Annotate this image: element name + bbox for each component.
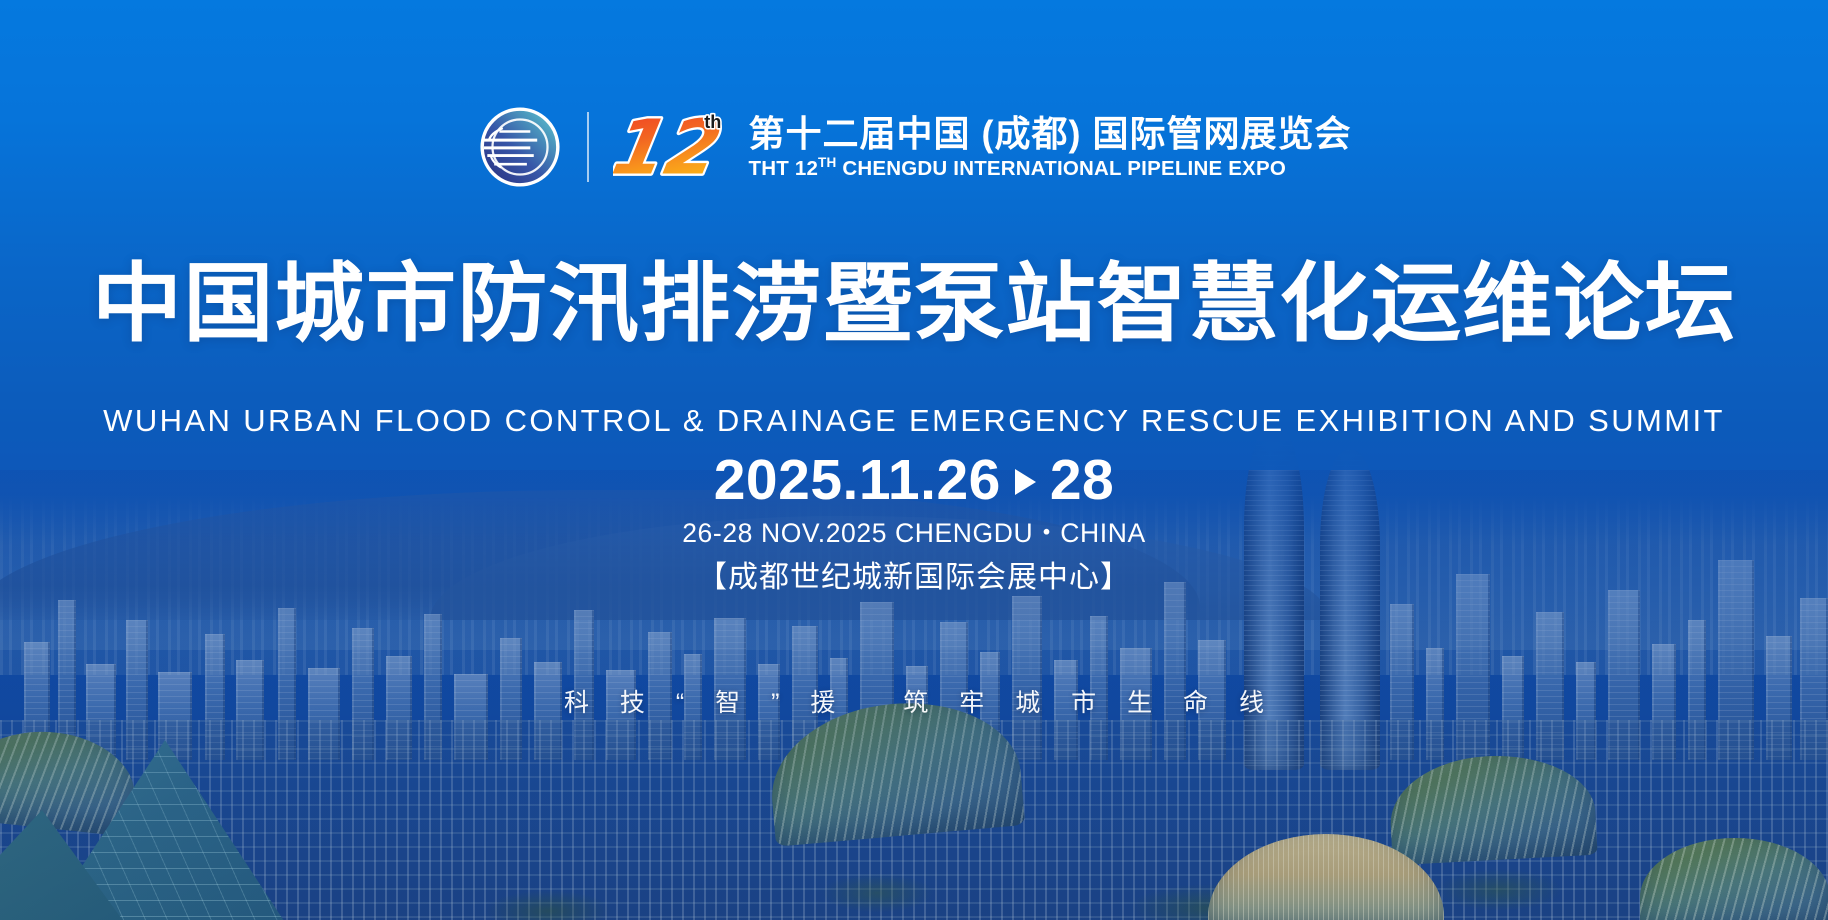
expo-header-row: 12 th 第十二届中国 (成都) 国际管网展览会 THT 12TH CHENG… [0,104,1828,190]
event-banner: 12 th 第十二届中国 (成都) 国际管网展览会 THT 12TH CHENG… [0,0,1828,920]
event-date-start: 2025.11.26 [714,447,1001,513]
play-triangle-icon [1015,469,1036,495]
expo-title-cn: 第十二届中国 (成都) 国际管网展览会 [749,114,1352,154]
expo-title-en: THT 12TH CHENGDU INTERNATIONAL PIPELINE … [749,155,1352,180]
event-date-en: 26-28 NOV.2025 CHENGDU・CHINA [0,511,1828,550]
pipeline-circle-emblem-icon [477,104,563,190]
vertical-divider-icon [587,112,589,182]
main-title-en: WUHAN URBAN FLOOD CONTROL & DRAINAGE EME… [0,403,1828,439]
event-venue: 【成都世纪城新国际会展中心】 [0,552,1828,596]
expo-title-en-prefix: THT 12 [749,157,819,180]
event-date-end: 28 [1050,447,1114,513]
expo-title-en-rest: CHENGDU INTERNATIONAL PIPELINE EXPO [836,157,1286,180]
svg-text:th: th [704,112,721,132]
banner-content: 12 th 第十二届中国 (成都) 国际管网展览会 THT 12TH CHENG… [0,0,1828,920]
expo-title-en-sup: TH [818,155,836,170]
edition-number-graphic: 12 th [613,104,731,190]
expo-title-group: 第十二届中国 (成都) 国际管网展览会 THT 12TH CHENGDU INT… [749,114,1352,181]
main-title-cn: 中国城市防汛排涝暨泵站智慧化运维论坛 [0,258,1828,351]
event-date: 2025.11.26 28 [0,447,1828,513]
footer-tagline: 科 技 “ 智 ” 援 筑 牢 城 市 生 命 线 [0,683,1828,719]
